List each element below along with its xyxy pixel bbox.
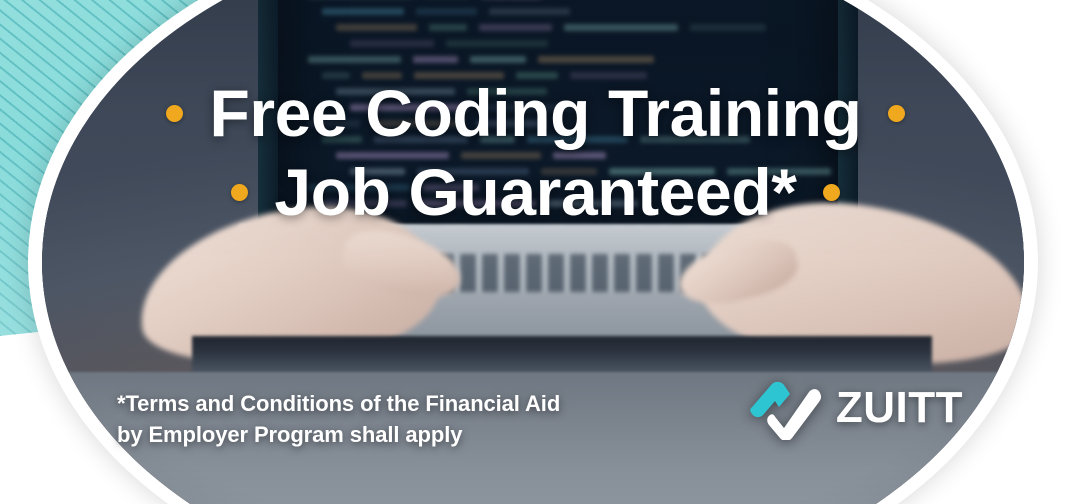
zuitt-logo: ZUITT	[746, 376, 963, 440]
promo-banner: Free Coding Training Job Guaranteed* *Te…	[0, 0, 1071, 504]
disclaimer-text: *Terms and Conditions of the Financial A…	[117, 388, 560, 450]
zuitt-zigzag-check-icon	[746, 376, 822, 440]
disclaimer-line-1: *Terms and Conditions of the Financial A…	[117, 388, 560, 419]
disclaimer-line-2: by Employer Program shall apply	[117, 419, 560, 450]
zuitt-wordmark: ZUITT	[836, 383, 963, 433]
